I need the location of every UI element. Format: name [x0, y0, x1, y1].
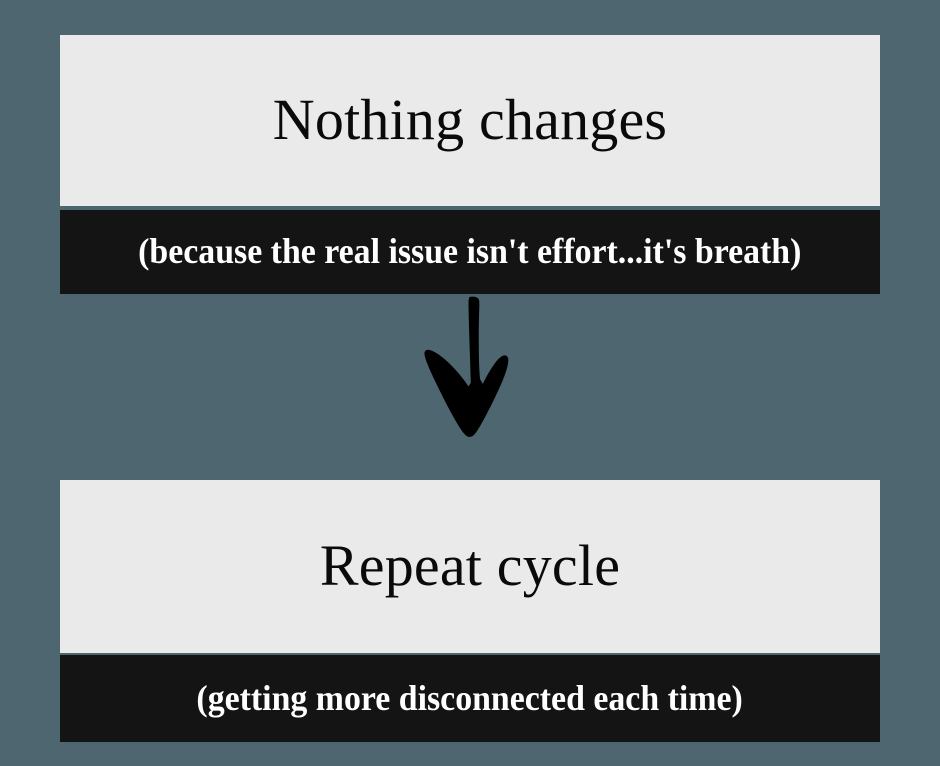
flow-step-1-title: Nothing changes — [273, 90, 667, 151]
flow-step-2-caption-bar: (getting more disconnected each time) — [60, 655, 880, 742]
flow-step-card-1: Nothing changes (because the real issue … — [60, 35, 880, 294]
flow-step-1-body: Nothing changes — [60, 35, 880, 206]
flow-step-card-2: Repeat cycle (getting more disconnected … — [60, 480, 880, 742]
flow-step-2-title: Repeat cycle — [320, 536, 620, 597]
flow-step-2-caption-text: (getting more disconnected each time) — [197, 679, 743, 719]
flow-step-1-caption-bar: (because the real issue isn't effort...i… — [60, 210, 880, 294]
flow-step-2-body: Repeat cycle — [60, 480, 880, 653]
down-arrow-icon — [420, 292, 530, 444]
flow-step-1-caption-text: (because the real issue isn't effort...i… — [138, 232, 801, 272]
infographic-canvas: Nothing changes (because the real issue … — [0, 0, 940, 766]
